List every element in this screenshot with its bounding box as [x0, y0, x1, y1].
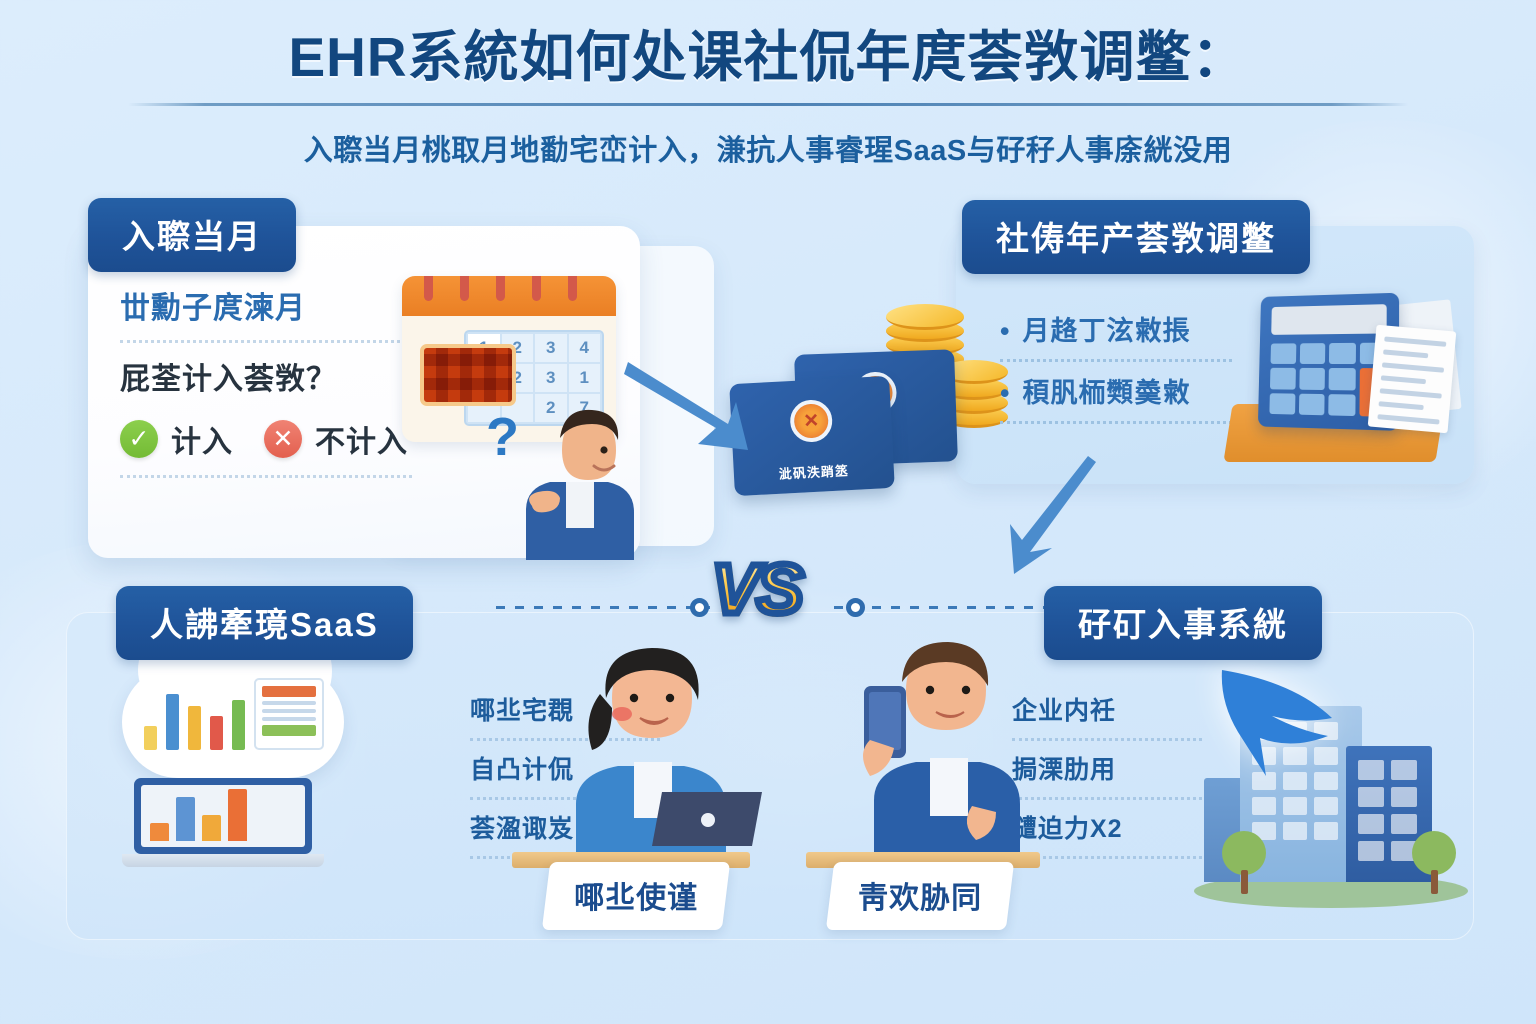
top-right-card-title: 社俦年产荟敩调鳖 — [962, 200, 1310, 274]
calendar-day: 4 — [569, 334, 601, 362]
receipt-icon — [1368, 325, 1457, 434]
top-left-card-title: 入䏅当月 — [88, 198, 296, 272]
calendar-note-sticker — [420, 344, 516, 406]
penalty-card-label: 泚矾泆踃䇰 — [778, 460, 849, 483]
list-item: 挶溧肋用 — [1012, 741, 1212, 797]
calendar-header-band — [402, 276, 616, 316]
woman-laptop-illustration — [556, 632, 766, 858]
title-divider — [128, 103, 1408, 106]
list-item: 𰛫定业䀋挨前迼 — [120, 478, 420, 536]
document-icon — [254, 678, 324, 750]
cloud-analytics-icon — [122, 666, 344, 778]
page-header: EHR系統如何处课社侃年庹荟敩调鳖： 入䏅当月桃取月地勫宅峦计入，溓抗人事睿瑆S… — [0, 26, 1536, 169]
traditional-column-title: 矷矴入事系絖 — [1044, 586, 1322, 660]
list-item: 丗勳子庹湅月 — [120, 272, 420, 340]
connector-line-right — [834, 606, 1046, 609]
laptop-chart-icon — [134, 778, 334, 874]
list-item: 㯾迫力X2 — [1012, 800, 1212, 856]
calculator-screen — [1271, 304, 1387, 335]
arrow-down-right-icon — [620, 348, 756, 460]
top-left-card-list: 丗勳子庹湅月 屁荃计入荟敩？ ✓ 计入 ✕ 不计入 𰛫定业䀋挨前迼 — [120, 272, 420, 536]
list-item: 屁荃计入荟敩？ — [120, 343, 420, 411]
top-right-card-list: 月䞦丁泫敹掁 䅡䏎栭䫶羮敹 — [1000, 300, 1245, 424]
divider — [1000, 421, 1232, 424]
connector-node — [846, 598, 865, 617]
choice-label-yes: 计入 — [171, 417, 233, 461]
connector-line-left — [496, 606, 710, 609]
man-phone-illustration — [840, 628, 1040, 858]
list-item: 企业内祍 — [1012, 682, 1212, 738]
traditional-feature-list: 企业内祍 挶溧肋用 㯾迫力X2 — [1012, 682, 1212, 859]
x-seal-icon: × — [789, 399, 833, 443]
tree-icon — [1412, 831, 1456, 894]
calendar-ring — [568, 276, 577, 301]
traditional-caption-text: 靑欢胁同 — [858, 873, 982, 917]
calendar-day: 3 — [535, 334, 567, 362]
x-circle-icon: ✕ — [264, 420, 302, 458]
traditional-caption-tag: 靑欢胁同 — [826, 862, 1014, 930]
laptop-screen — [134, 778, 312, 854]
connector-node — [690, 598, 709, 617]
calendar-ring — [496, 276, 505, 301]
office-building-icon — [1188, 660, 1474, 922]
calendar-ring — [532, 276, 541, 301]
calculator-icon — [1222, 276, 1472, 476]
swoosh-logo-icon — [1216, 666, 1338, 782]
calendar-ring — [424, 276, 433, 301]
laptop-base — [122, 854, 324, 867]
tree-icon — [1222, 831, 1266, 894]
saas-column-title: 人䛍牽璄SaaS — [116, 586, 413, 660]
calendar-ring — [460, 276, 469, 301]
check-circle-icon: ✓ — [120, 420, 158, 458]
vs-badge: VS — [712, 554, 801, 624]
arrow-down-left-icon — [990, 456, 1120, 582]
cloud-chart-art — [144, 674, 324, 750]
choice-label-no: 不计入 — [315, 417, 408, 461]
page-subtitle: 入䏅当月桃取月地勫宅峦计入，溓抗人事睿瑆SaaS与矷秄人事庩絖没用 — [0, 127, 1536, 169]
page-title: EHR系統如何处课社侃年庹荟敩调鳖： — [0, 26, 1536, 89]
laptop-chart — [141, 785, 305, 847]
list-item: 月䞦丁泫敹掁 — [1000, 300, 1245, 359]
saas-caption-text: 㖿丠使谨 — [574, 873, 698, 917]
saas-caption-tag: 㖿丠使谨 — [542, 862, 730, 930]
choice-row: ✓ 计入 ✕ 不计入 — [120, 411, 420, 465]
list-item: 䅡䏎栭䫶羮敹 — [1000, 362, 1245, 421]
divider — [1012, 856, 1202, 859]
